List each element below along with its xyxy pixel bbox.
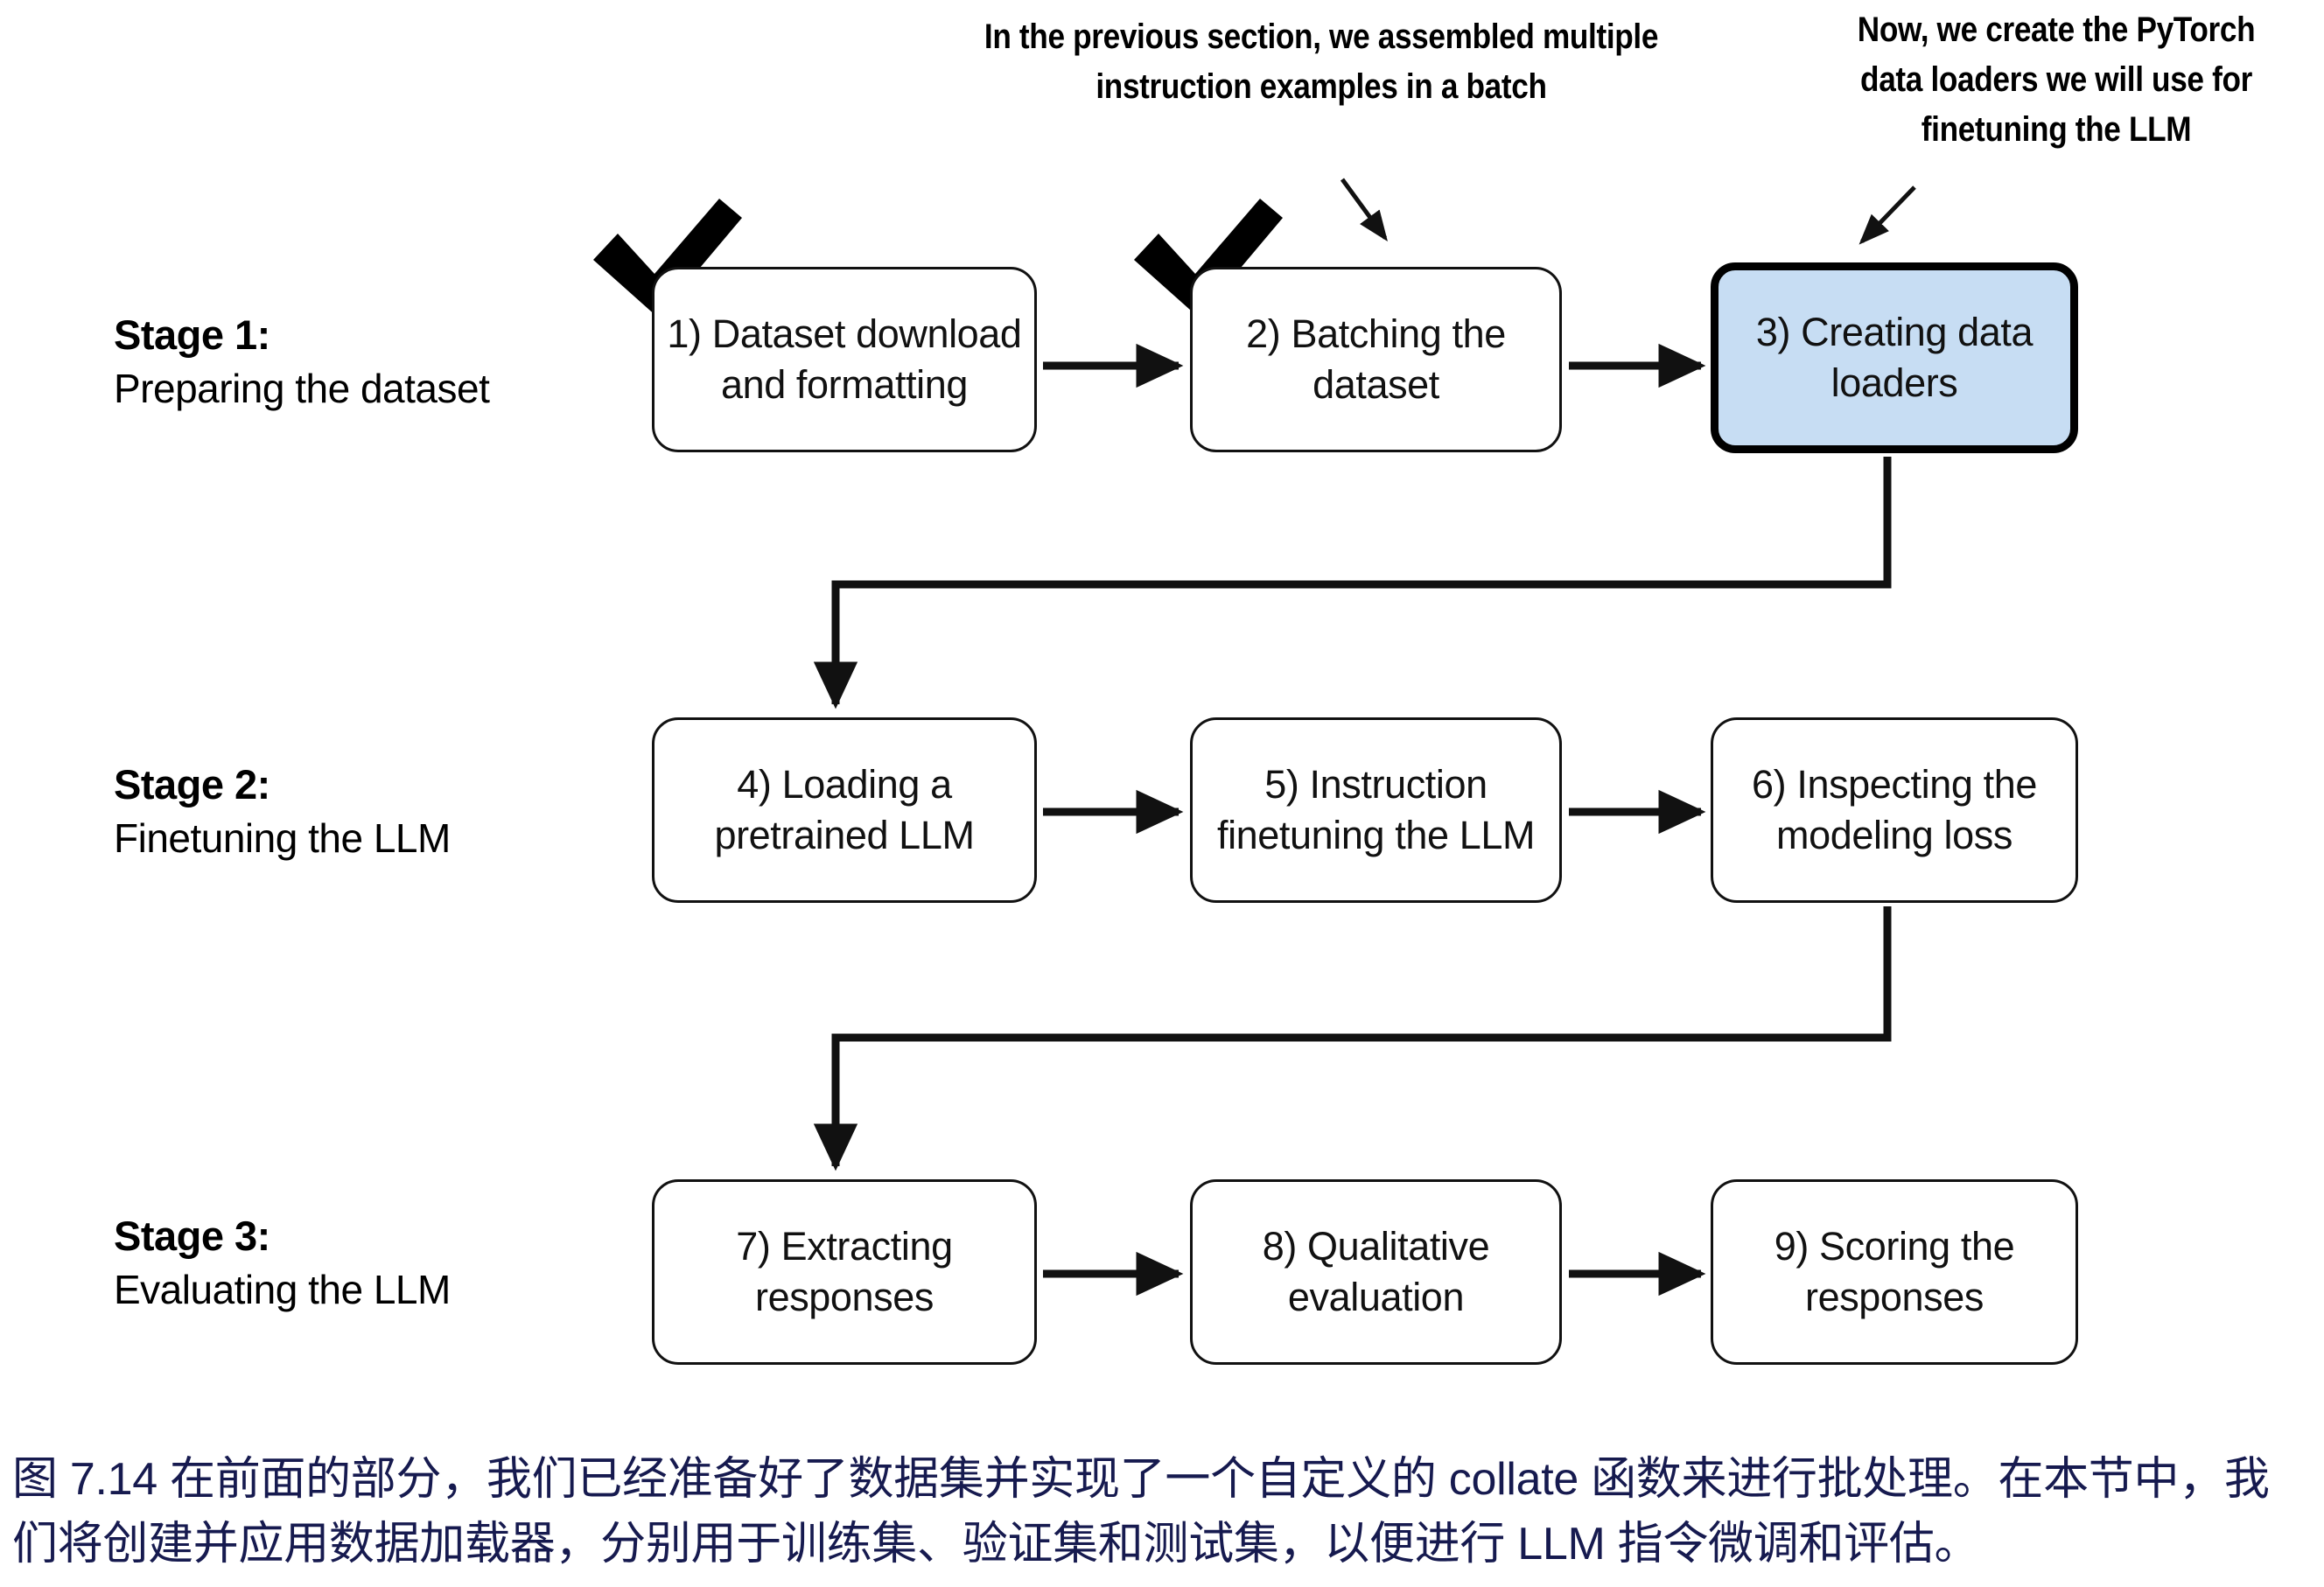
flow-step-2-batching-the-dataset[interactable]: 2) Batching the dataset	[1190, 267, 1562, 452]
flow-step-1-dataset-download-and-formatting[interactable]: 1) Dataset download and formatting	[652, 267, 1037, 452]
annotation-batching-note: In the previous section, we assembled mu…	[975, 12, 1668, 112]
annotation-pointer-dataloaders	[1862, 187, 1914, 241]
stage-3-description: Evaluating the LLM	[114, 1263, 451, 1317]
stage-label-3: Stage 3: Evaluating the LLM	[114, 1209, 451, 1317]
connector-stage1-to-stage2	[836, 457, 1887, 704]
annotation-pointer-batching	[1342, 179, 1385, 238]
figure-caption: 图 7.14 在前面的部分，我们已经准备好了数据集并实现了一个自定义的 coll…	[12, 1448, 2313, 1577]
stage-2-description: Finetuning the LLM	[114, 812, 451, 865]
annotation-dataloaders-note: Now, we create the PyTorch data loaders …	[1833, 5, 2279, 154]
stage-label-1: Stage 1: Preparing the dataset	[114, 308, 489, 416]
flow-step-3-creating-data-loaders[interactable]: 3) Creating data loaders	[1711, 262, 2078, 453]
stage-1-title: Stage 1:	[114, 308, 489, 362]
stage-3-title: Stage 3:	[114, 1209, 451, 1263]
stage-1-description: Preparing the dataset	[114, 362, 489, 416]
flow-step-7-extracting-responses[interactable]: 7) Extracting responses	[652, 1179, 1037, 1365]
flow-step-6-inspecting-the-modeling-loss[interactable]: 6) Inspecting the modeling loss	[1711, 717, 2078, 903]
stage-label-2: Stage 2: Finetuning the LLM	[114, 758, 451, 865]
flow-step-5-instruction-finetuning-the-llm[interactable]: 5) Instruction finetuning the LLM	[1190, 717, 1562, 903]
flow-step-8-qualitative-evaluation[interactable]: 8) Qualitative evaluation	[1190, 1179, 1562, 1365]
connector-stage2-to-stage3	[836, 906, 1887, 1166]
flow-step-4-loading-a-pretrained-llm[interactable]: 4) Loading a pretrained LLM	[652, 717, 1037, 903]
stage-2-title: Stage 2:	[114, 758, 451, 812]
figure-canvas: In the previous section, we assembled mu…	[0, 0, 2324, 1587]
flow-step-9-scoring-the-responses[interactable]: 9) Scoring the responses	[1711, 1179, 2078, 1365]
